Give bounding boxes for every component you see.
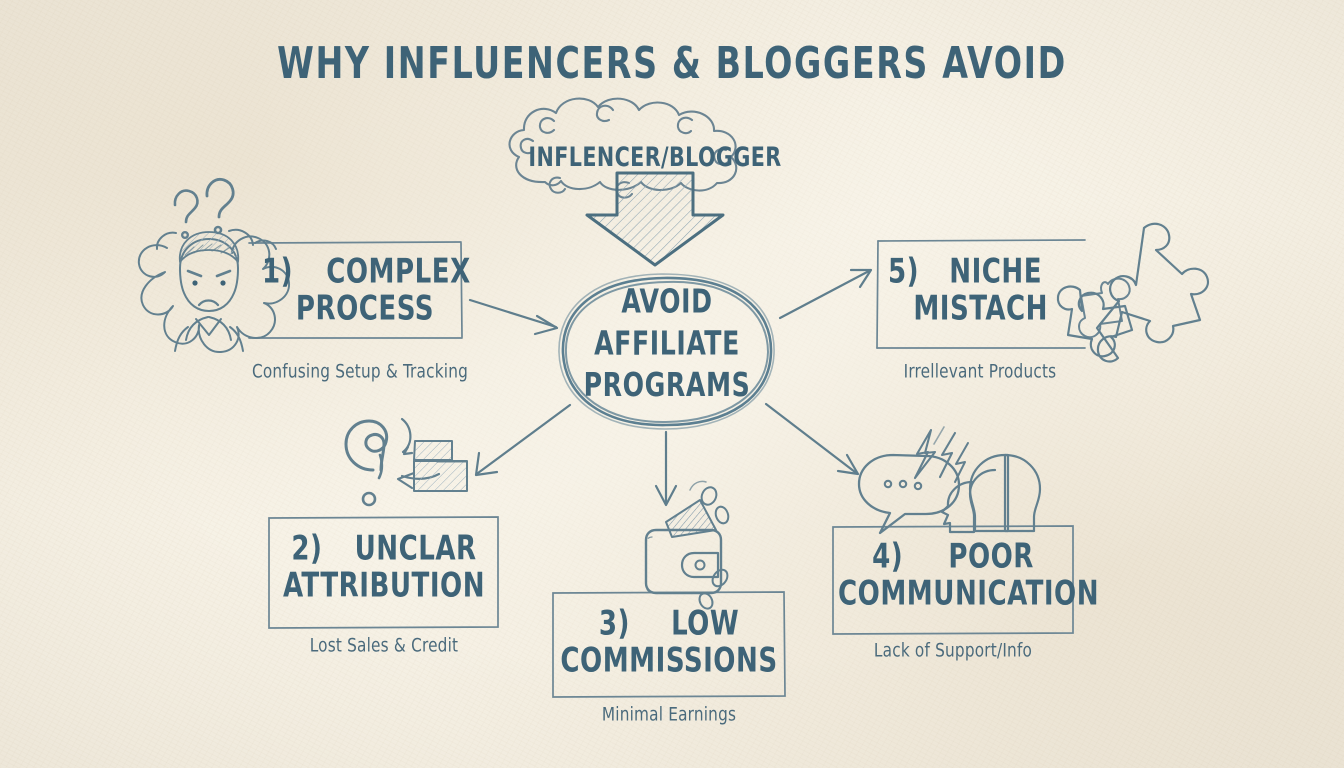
node-complex-process[interactable]: 1) COMPLEX PROCESS bbox=[262, 253, 454, 327]
page-title: WHY INFLUENCERS & BLOGGERS AVOID bbox=[0, 38, 1344, 89]
node-poor-communication[interactable]: 4) POOR COMMUNICATION bbox=[838, 538, 1068, 612]
node-4-number: 4) bbox=[872, 536, 903, 575]
hub-line-3: PROGRAMS bbox=[561, 365, 773, 407]
node-5-caption: Irrellevant Products bbox=[872, 361, 1088, 383]
node-4-caption: Lack of Support/Info bbox=[838, 640, 1068, 662]
node-5-number: 5) bbox=[888, 251, 919, 290]
diagram-text-layer: WHY INFLUENCERS & BLOGGERS AVOID INFLENC… bbox=[0, 0, 1344, 768]
node-3-title-word-1: LOW bbox=[671, 603, 739, 642]
node-unclear-attribution[interactable]: 2) UNCLAR ATTRIBUTION bbox=[276, 530, 492, 604]
node-5-title-word-1: NICHE bbox=[949, 251, 1042, 290]
node-4-title-word-1: POOR bbox=[948, 536, 1034, 575]
node-3-title-line-2: COMMISSIONS bbox=[558, 639, 780, 682]
source-cloud-label: INFLENCER/BLOGGER bbox=[520, 143, 790, 173]
node-4-title-line-2: COMMUNICATION bbox=[838, 572, 1068, 615]
node-1-caption: Confusing Setup & Tracking bbox=[232, 361, 488, 383]
node-niche-mismatch[interactable]: 5) NICHE MISTACH bbox=[888, 253, 1060, 327]
node-5-title-line-2: MISTACH bbox=[888, 287, 1060, 330]
node-2-number: 2) bbox=[291, 528, 322, 567]
diagram-canvas: WHY INFLUENCERS & BLOGGERS AVOID INFLENC… bbox=[0, 0, 1344, 768]
node-3-caption: Minimal Earnings bbox=[558, 704, 780, 726]
node-1-title-word-1: COMPLEX bbox=[326, 251, 470, 290]
node-1-number: 1) bbox=[262, 251, 293, 290]
node-low-commissions[interactable]: 3) LOW COMMISSIONS bbox=[558, 605, 780, 679]
node-2-title-word-1: UNCLAR bbox=[355, 528, 477, 567]
node-3-number: 3) bbox=[599, 603, 630, 642]
node-1-title-line-2: PROCESS bbox=[262, 287, 454, 330]
hub-label: AVOID AFFILIATE PROGRAMS bbox=[561, 281, 773, 406]
hub-line-1: AVOID bbox=[561, 281, 773, 323]
node-2-caption: Lost Sales & Credit bbox=[276, 635, 492, 657]
hub-line-2: AFFILIATE bbox=[561, 323, 773, 365]
node-2-title-line-2: ATTRIBUTION bbox=[276, 564, 492, 607]
